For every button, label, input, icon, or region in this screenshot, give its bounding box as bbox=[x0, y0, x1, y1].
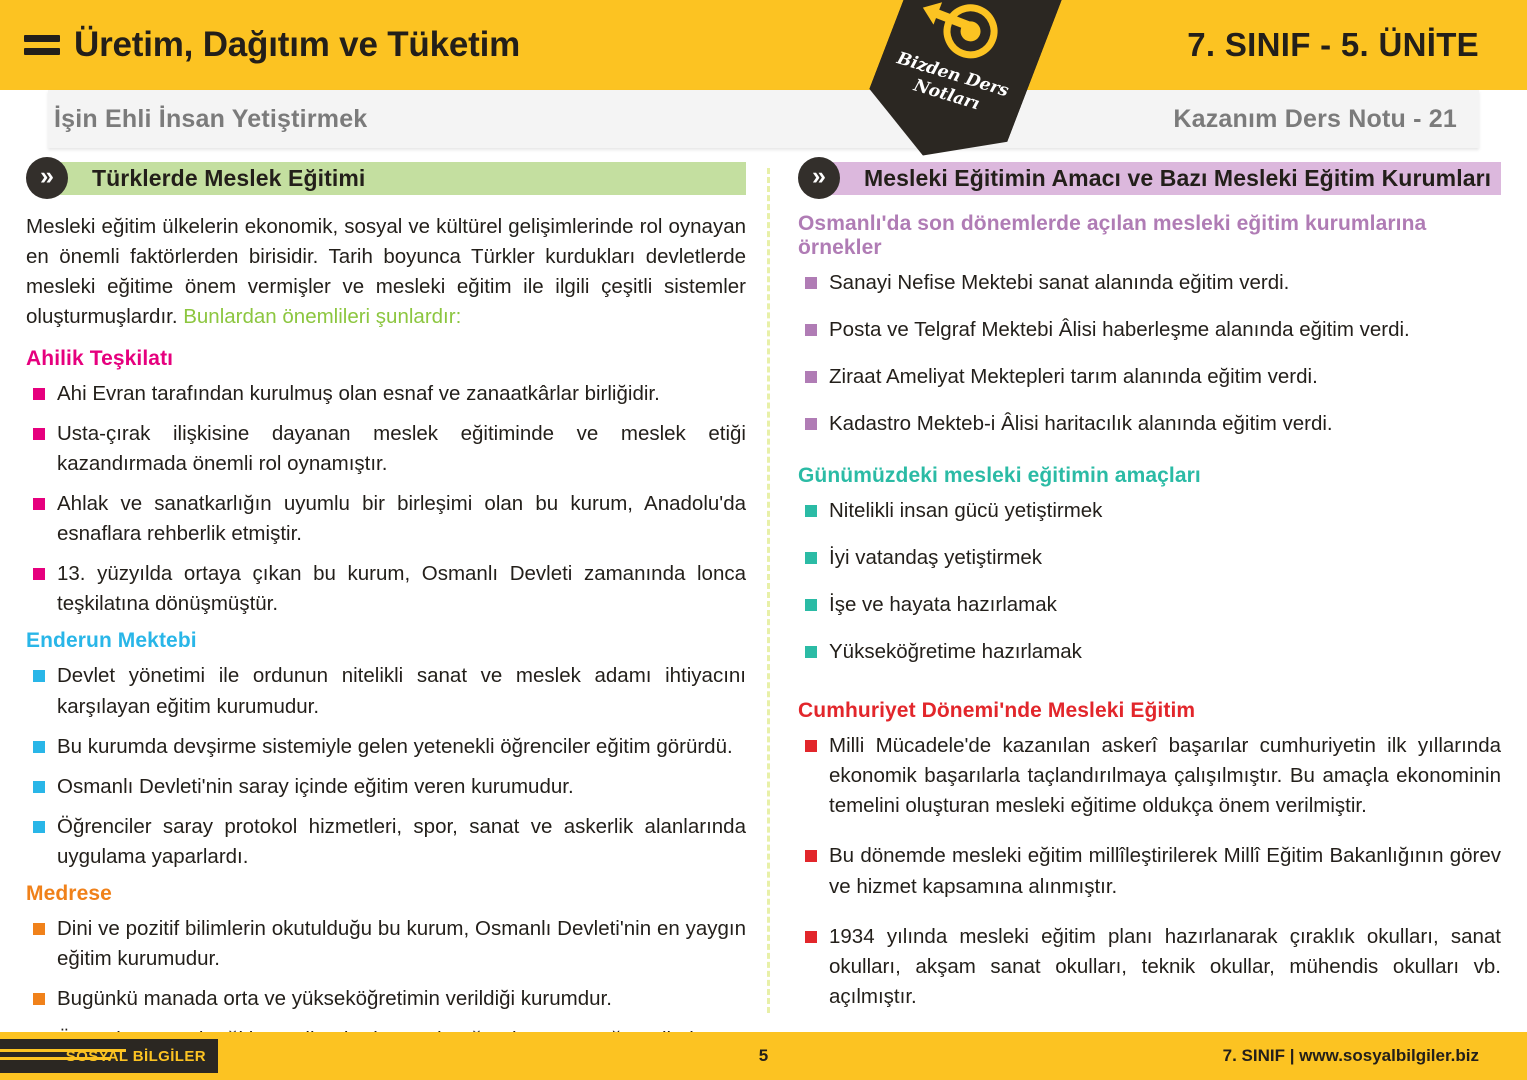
right-section-header: » Mesleki Eğitimin Amacı ve Bazı Mesleki… bbox=[798, 160, 1501, 196]
subheading-osmanli-kurumlar: Osmanlı'da son dönemlerde açılan mesleki… bbox=[798, 212, 1501, 260]
header-left-group: Üretim, Dağıtım ve Tüketim bbox=[24, 25, 520, 65]
list-item: Yükseköğretime hazırlamak bbox=[798, 637, 1501, 667]
list-item: İşe ve hayata hazırlamak bbox=[798, 590, 1501, 620]
list-osmanli-kurumlar: Sanayi Nefise Mektebi sanat alanında eği… bbox=[798, 268, 1501, 440]
list-item: Milli Mücadele'de kazanılan askerî başar… bbox=[798, 731, 1501, 821]
list-enderun: Devlet yönetimi ile ordunun nitelikli sa… bbox=[26, 661, 746, 872]
list-item: 1934 yılında mesleki eğitim planı hazırl… bbox=[798, 922, 1501, 1012]
intro-paragraph: Mesleki eğitim ülkelerin ekonomik, sosya… bbox=[26, 212, 746, 333]
badge-text: Bizden Ders Notları bbox=[888, 48, 1011, 122]
grade-unit-label: 7. SINIF - 5. ÜNİTE bbox=[1187, 26, 1479, 64]
right-section-title: Mesleki Eğitimin Amacı ve Bazı Mesleki E… bbox=[828, 162, 1501, 195]
list-item: Posta ve Telgraf Mektebi Âlisi haberleşm… bbox=[798, 315, 1501, 345]
footer-bar: SOSYAL BİLGİLER 5 7. SINIF | www.sosyalb… bbox=[0, 1032, 1527, 1080]
list-item: Ahlak ve sanatkarlığın uyumlu bir birleş… bbox=[26, 489, 746, 549]
subheading-medrese: Medrese bbox=[26, 882, 746, 906]
list-item: Usta-çırak ilişkisine dayanan meslek eği… bbox=[26, 419, 746, 479]
subheading-cumhuriyet: Cumhuriyet Dönemi'nde Mesleki Eğitim bbox=[798, 699, 1501, 723]
column-divider bbox=[767, 168, 770, 1013]
list-item: Dini ve pozitif bilimlerin okutulduğu bu… bbox=[26, 914, 746, 974]
list-item: Öğrenciler saray protokol hizmetleri, sp… bbox=[26, 812, 746, 872]
list-item: Ziraat Ameliyat Mektepleri tarım alanınd… bbox=[798, 362, 1501, 392]
double-chevron-right-icon: » bbox=[26, 157, 68, 199]
list-item: Devlet yönetimi ile ordunun nitelikli sa… bbox=[26, 661, 746, 721]
subheader-topic: İşin Ehli İnsan Yetiştirmek bbox=[54, 105, 367, 134]
target-arrow-icon bbox=[936, 0, 1006, 66]
footer-logo-text: SOSYAL BİLGİLER bbox=[66, 1048, 206, 1065]
list-item: Osmanlı Devleti'nin saray içinde eğitim … bbox=[26, 772, 746, 802]
page-number: 5 bbox=[0, 1046, 1527, 1066]
page-title: Üretim, Dağıtım ve Tüketim bbox=[74, 25, 520, 65]
left-section-title: Türklerde Meslek Eğitimi bbox=[56, 162, 746, 195]
list-item: Sanayi Nefise Mektebi sanat alanında eği… bbox=[798, 268, 1501, 298]
subheader-note-number: Kazanım Ders Notu - 21 bbox=[1173, 105, 1457, 134]
right-column: » Mesleki Eğitimin Amacı ve Bazı Mesleki… bbox=[772, 160, 1527, 1020]
content-area: » Türklerde Meslek Eğitimi Mesleki eğiti… bbox=[0, 160, 1527, 1020]
header-bar: Üretim, Dağıtım ve Tüketim 7. SINIF - 5.… bbox=[0, 0, 1527, 90]
subheading-ahilik: Ahilik Teşkilatı bbox=[26, 347, 746, 371]
left-column: » Türklerde Meslek Eğitimi Mesleki eğiti… bbox=[0, 160, 772, 1020]
lesson-note-page: Üretim, Dağıtım ve Tüketim 7. SINIF - 5.… bbox=[0, 0, 1527, 1080]
intro-highlight: Bunlardan önemlileri şunlardır: bbox=[183, 305, 461, 328]
list-item: Nitelikli insan gücü yetiştirmek bbox=[798, 496, 1501, 526]
double-chevron-right-icon: » bbox=[798, 157, 840, 199]
hamburger-icon bbox=[24, 32, 60, 58]
left-section-header: » Türklerde Meslek Eğitimi bbox=[26, 160, 746, 196]
list-item: Bugünkü manada orta ve yükseköğretimin v… bbox=[26, 984, 746, 1014]
list-ahilik: Ahi Evran tarafından kurulmuş olan esnaf… bbox=[26, 379, 746, 620]
list-item: Kadastro Mekteb-i Âlisi haritacılık alan… bbox=[798, 409, 1501, 439]
list-item: İyi vatandaş yetiştirmek bbox=[798, 543, 1501, 573]
list-cumhuriyet: Milli Mücadele'de kazanılan askerî başar… bbox=[798, 731, 1501, 1080]
subheading-enderun: Enderun Mektebi bbox=[26, 629, 746, 653]
subheader-bar: İşin Ehli İnsan Yetiştirmek Kazanım Ders… bbox=[48, 90, 1479, 148]
list-item: Ahi Evran tarafından kurulmuş olan esnaf… bbox=[26, 379, 746, 409]
list-item: Bu kurumda devşirme sistemiyle gelen yet… bbox=[26, 732, 746, 762]
list-item: 13. yüzyılda ortaya çıkan bu kurum, Osma… bbox=[26, 559, 746, 619]
subheading-gunumuz-amaclar: Günümüzdeki mesleki eğitimin amaçları bbox=[798, 464, 1501, 488]
list-gunumuz-amaclar: Nitelikli insan gücü yetiştirmek İyi vat… bbox=[798, 496, 1501, 668]
list-item: Bu dönemde mesleki eğitim millîleştirile… bbox=[798, 841, 1501, 901]
